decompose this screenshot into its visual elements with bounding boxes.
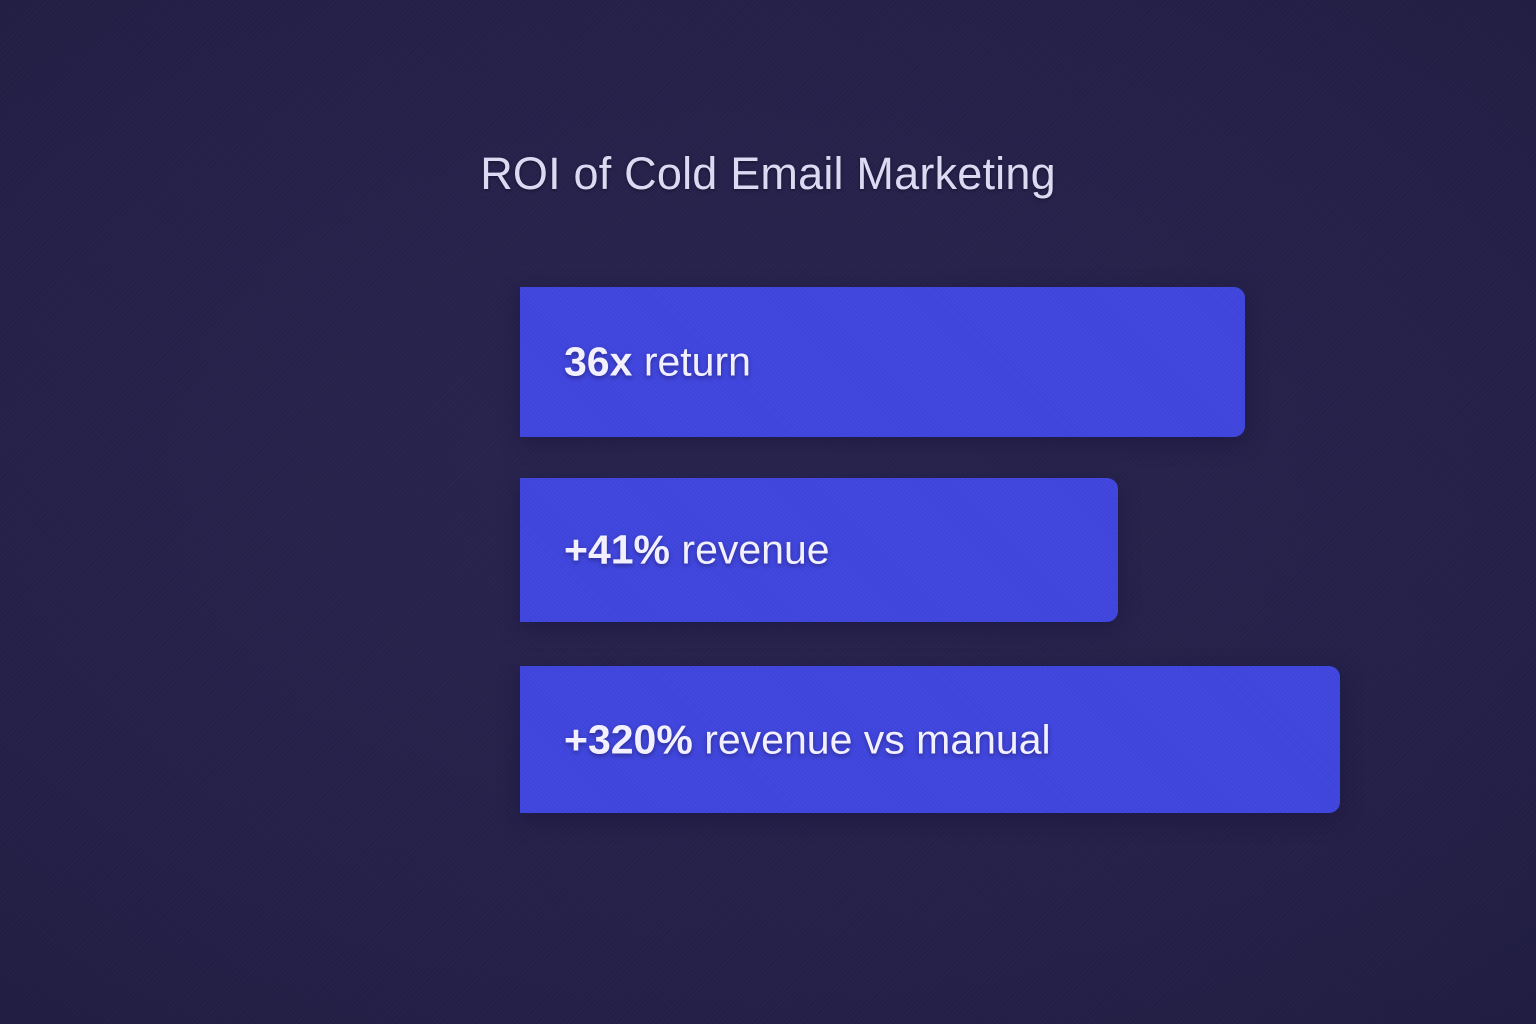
bar: 36x return	[520, 287, 1245, 437]
bar-value-number: +320%	[564, 716, 693, 762]
chart-title: ROI of Cold Email Marketing	[0, 148, 1536, 200]
bar: +320% revenue vs manual	[520, 666, 1340, 813]
bar-value-text: revenue vs manual	[704, 716, 1050, 762]
bar-value-number: +41%	[564, 527, 670, 573]
bar-value-text: revenue	[681, 527, 829, 573]
bar-value-number: 36x	[564, 339, 632, 385]
chart-canvas: ROI of Cold Email Marketing Email Market…	[0, 0, 1536, 1024]
bar-value-text: return	[644, 339, 751, 385]
bar: +41% revenue	[520, 478, 1118, 622]
bar-value-label: 36x return	[564, 339, 751, 386]
bar-value-label: +41% revenue	[564, 527, 830, 574]
bar-value-label: +320% revenue vs manual	[564, 716, 1051, 763]
